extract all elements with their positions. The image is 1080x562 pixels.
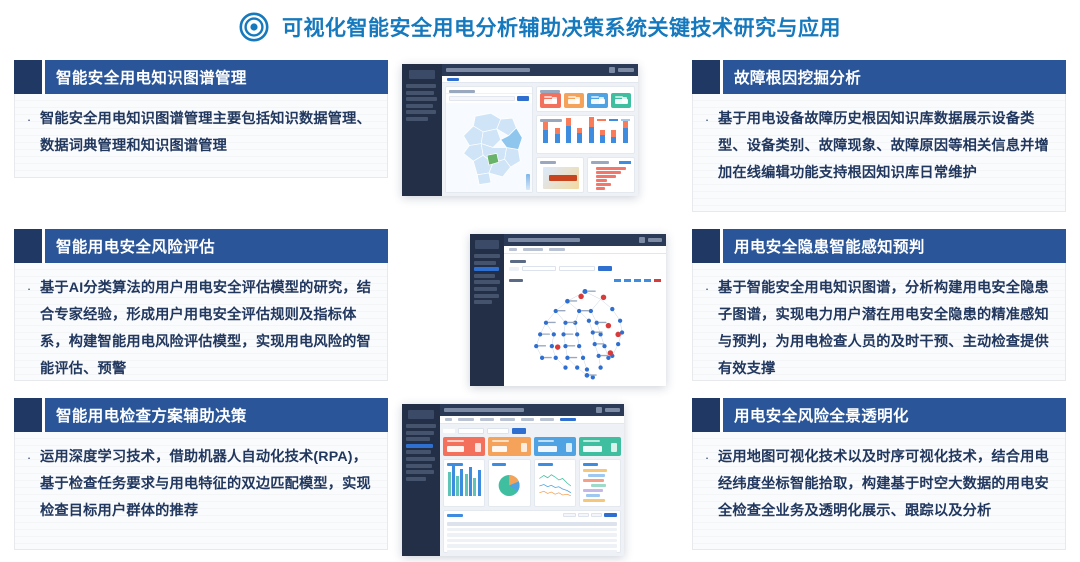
mini-tab[interactable] [549,248,565,251]
filter-label [443,429,455,433]
mini-menu-item[interactable] [406,91,434,95]
kpi-card[interactable] [587,93,608,108]
table-header-row [447,522,617,526]
table-action-button[interactable] [578,513,589,517]
region-map[interactable] [446,103,532,192]
table-row[interactable] [447,550,617,554]
mini-menu-item[interactable] [406,470,434,474]
bullet-dot-icon: · [25,106,33,133]
mini-tab-active[interactable] [560,418,576,421]
card-title: 故障根因挖掘分析 [734,66,861,88]
mini-user-name [618,68,634,72]
banner-panel [536,157,584,193]
card-bullet-text: 基于智能安全用电知识图谱，分析构建用电安全隐患子图谱，实现电力用户潜在用电安全隐… [718,275,1052,383]
page-title-text: 可视化智能安全用电分析辅助决策系统关键技术研究与应用 [282,12,841,42]
mini-menu-item-active[interactable] [406,444,433,448]
header-bar: 智能用电检查方案辅助决策 [45,398,388,432]
mini-topbar [442,64,638,76]
graph-filter-label [509,267,519,271]
mini-app-title [446,68,530,72]
card-bullet-text: 基于用电设备故障历史根因知识库数据展示设备类型、设备类别、故障现象、故障原因等相… [718,106,1052,187]
mini-menu-item[interactable] [406,457,435,461]
card-hazard-perception: 用电安全隐患智能感知预判 · 基于智能安全用电知识图谱，分析构建用电安全隐患子图… [692,229,1066,381]
card-header: 智能安全用电知识图谱管理 [14,60,388,94]
knowledge-graph-screenshot [470,234,666,386]
bullet-row: · 基于智能安全用电知识图谱，分析构建用电安全隐患子图谱，实现电力用户潜在用电安… [703,275,1052,383]
mini-menu-item[interactable] [474,287,497,291]
mini-menu-item[interactable] [406,84,436,88]
map-legend [526,174,530,190]
mini-tabbar [440,416,624,424]
header-accent-block [14,60,42,94]
mini-tab[interactable] [521,418,534,421]
mini-tabbar [504,246,666,254]
bullet-row: · 智能安全用电知识图谱管理主要包括知识数据管理、数据词典管理和知识图谱管理 [25,106,374,160]
card-header: 用电安全隐患智能感知预判 [692,229,1066,263]
kpi-card[interactable] [540,93,561,108]
mini-topbar [440,404,624,416]
header-bar: 用电安全隐患智能感知预判 [723,229,1066,263]
table-row[interactable] [447,533,617,537]
gantt-panel [579,459,621,507]
card-body: · 基于智能安全用电知识图谱，分析构建用电安全隐患子图谱，实现电力用户潜在用电安… [692,263,1066,381]
mini-menu-item[interactable] [474,254,500,258]
kpi-card[interactable] [534,437,576,456]
table-row[interactable] [447,539,617,543]
mini-menu-item[interactable] [406,431,434,435]
inspection-dashboard-screenshot [402,404,624,556]
bullet-dot-icon: · [703,444,711,471]
mini-menu-item[interactable] [406,97,437,101]
mini-menu-item[interactable] [406,117,428,121]
mini-app-title [508,238,580,242]
header-accent-block [692,398,720,432]
card-title: 用电安全隐患智能感知预判 [734,235,925,257]
mini-tab[interactable] [523,248,543,251]
mini-menu-item[interactable] [474,300,492,304]
horizontal-bar-panel [587,157,635,193]
mini-user-avatar[interactable] [609,67,615,73]
card-header: 智能用电安全风险评估 [14,229,388,263]
card-risk-transparency: 用电安全风险全景透明化 · 运用地图可视化技术以及时序可视化技术，结合用电经纬度… [692,398,1066,550]
card-fault-root-cause: 故障根因挖掘分析 · 基于用电设备故障历史根因知识库数据展示设备类型、设备类别、… [692,60,1066,212]
kpi-card[interactable] [488,437,530,456]
header-bar: 智能用电安全风险评估 [45,229,388,263]
region-map-panel [445,86,533,193]
filter-row [443,427,621,434]
mini-tab[interactable] [540,418,554,421]
mini-logo [409,70,435,79]
table-export-button[interactable] [604,513,617,517]
bullet-dot-icon: · [25,444,33,471]
mini-tab[interactable] [447,78,459,81]
bullet-row: · 基于AI分类算法的用户用电安全评估模型的研究，结合专家经验，形成用户用电安全… [25,275,374,383]
card-body: · 基于AI分类算法的用户用电安全评估模型的研究，结合专家经验，形成用户用电安全… [14,263,388,381]
header-accent-block [692,60,720,94]
kpi-card[interactable] [611,93,632,108]
mini-tab[interactable] [458,418,474,421]
bullet-row: · 运用深度学习技术，借助机器人自动化技术(RPA)，基于检查任务要求与用电特征… [25,444,374,525]
mini-menu-item[interactable] [406,477,426,481]
network-graph-svg [507,279,663,383]
mini-app-window [470,234,666,386]
card-body: · 智能安全用电知识图谱管理主要包括知识数据管理、数据词典管理和知识图谱管理 [14,94,388,178]
header-bar: 用电安全风险全景透明化 [723,398,1066,432]
kpi-card[interactable] [564,93,585,108]
mini-sidebar [470,234,504,386]
table-action-button[interactable] [591,513,602,517]
pie-chart [489,460,529,506]
bullet-dot-icon: · [25,275,33,302]
header-bar: 智能安全用电知识图谱管理 [45,60,388,94]
mini-topbar [504,234,666,246]
bullet-dot-icon: · [703,275,711,302]
mini-menu-item[interactable] [406,424,436,428]
slide-root: 可视化智能安全用电分析辅助决策系统关键技术研究与应用 智能安全用电知识图谱管理 … [0,0,1080,562]
mini-user-avatar[interactable] [639,237,645,243]
data-table-panel [443,510,621,553]
mini-tab[interactable] [509,248,517,251]
card-bullet-text: 智能安全用电知识图谱管理主要包括知识数据管理、数据词典管理和知识图谱管理 [40,106,374,160]
mini-sidebar [402,64,442,196]
mini-menu-item[interactable] [406,464,432,468]
graph-filter-select[interactable] [522,266,556,271]
card-bullet-text: 运用深度学习技术，借助机器人自动化技术(RPA)，基于检查任务要求与用电特征的双… [40,444,374,525]
map-filter-row [446,94,532,103]
table-row[interactable] [447,528,617,532]
card-header: 用电安全风险全景透明化 [692,398,1066,432]
mini-tabbar [442,76,638,83]
knowledge-graph-canvas[interactable] [507,279,663,383]
header-accent-block [14,398,42,432]
mini-content [440,424,624,556]
mini-tab[interactable] [445,418,452,421]
mini-user-name [605,408,620,412]
mini-logo [408,410,434,419]
mini-menu-item-active[interactable] [474,267,499,271]
map-svg [446,103,532,192]
mini-menu-item[interactable] [474,274,495,278]
filter-input[interactable] [487,428,509,434]
card-bullet-text: 运用地图可视化技术以及时序可视化技术，结合用电经纬度坐标智能拾取，构建基于时空大… [718,444,1052,525]
card-risk-assessment: 智能用电安全风险评估 · 基于AI分类算法的用户用电安全评估模型的研究，结合专家… [14,229,388,381]
stacked-bar-panel [536,115,635,154]
card-knowledge-graph-management: 智能安全用电知识图谱管理 · 智能安全用电知识图谱管理主要包括知识数据管理、数据… [14,60,388,178]
mini-menu-item[interactable] [406,104,433,108]
pie-chart-panel [488,459,530,507]
kpi-panel [536,86,635,112]
card-body: · 运用地图可视化技术以及时序可视化技术，结合用电经纬度坐标智能拾取，构建基于时… [692,432,1066,550]
mini-menu-item[interactable] [474,294,499,298]
mini-content [504,254,666,386]
mini-main [504,234,666,386]
mini-user-avatar[interactable] [596,407,602,413]
bar-chart-panel [443,459,485,507]
mini-app-window [402,404,624,556]
page-title: 可视化智能安全用电分析辅助决策系统关键技术研究与应用 [0,6,1080,48]
mini-tab[interactable] [480,418,494,421]
kpi-row [443,437,621,456]
grouped-bar-chart [444,468,484,498]
mini-app-title [444,408,524,412]
mini-menu-item[interactable] [406,437,430,441]
header-accent-block [14,229,42,263]
header-bar: 故障根因挖掘分析 [723,60,1066,94]
mini-content [442,83,638,196]
card-title: 智能用电检查方案辅助决策 [56,404,247,426]
bullet-row: · 基于用电设备故障历史根因知识库数据展示设备类型、设备类别、故障现象、故障原因… [703,106,1052,187]
filter-select[interactable] [458,428,484,434]
card-header: 智能用电检查方案辅助决策 [14,398,388,432]
line-chart [535,468,575,498]
mini-menu-item[interactable] [406,110,436,114]
header-accent-block [692,229,720,263]
graph-query-button[interactable] [598,266,612,271]
mini-menu-item[interactable] [474,280,500,284]
mini-menu-item[interactable] [474,261,496,265]
mini-logo [475,240,499,249]
kpi-card[interactable] [443,437,485,456]
chart-row [443,459,621,507]
mini-app-window [402,64,638,196]
bullet-dot-icon: · [703,106,711,133]
card-header: 故障根因挖掘分析 [692,60,1066,94]
card-title: 用电安全风险全景透明化 [734,404,909,426]
graph-filter-input[interactable] [559,266,595,271]
table-action-button[interactable] [563,513,576,517]
data-table[interactable] [444,519,620,556]
map-dashboard-screenshot [402,64,638,196]
query-button[interactable] [512,428,526,434]
mini-main [442,64,638,196]
table-row[interactable] [447,544,617,548]
kpi-card[interactable] [579,437,621,456]
mini-tab[interactable] [500,418,515,421]
mini-menu-item[interactable] [406,450,431,454]
stacked-bar-chart [537,124,634,145]
horizontal-bar-chart [588,165,634,192]
card-inspection-decision: 智能用电检查方案辅助决策 · 运用深度学习技术，借助机器人自动化技术(RPA)，… [14,398,388,550]
bullet-row: · 运用地图可视化技术以及时序可视化技术，结合用电经纬度坐标智能拾取，构建基于时… [703,444,1052,525]
card-title: 智能用电安全风险评估 [56,235,215,257]
card-bullet-text: 基于AI分类算法的用户用电安全评估模型的研究，结合专家经验，形成用户用电安全评估… [40,275,374,383]
mini-user-name [648,238,662,242]
mini-sidebar [402,404,440,556]
target-bullseye-icon [239,12,269,42]
card-body: · 基于用电设备故障历史根因知识库数据展示设备类型、设备类别、故障现象、故障原因… [692,94,1066,212]
card-body: · 运用深度学习技术，借助机器人自动化技术(RPA)，基于检查任务要求与用电特征… [14,432,388,550]
map-filter-select[interactable] [449,96,515,101]
line-chart-panel [534,459,576,507]
card-title: 智能安全用电知识图谱管理 [56,66,247,88]
mini-main [440,404,624,556]
map-query-button[interactable] [517,96,529,101]
